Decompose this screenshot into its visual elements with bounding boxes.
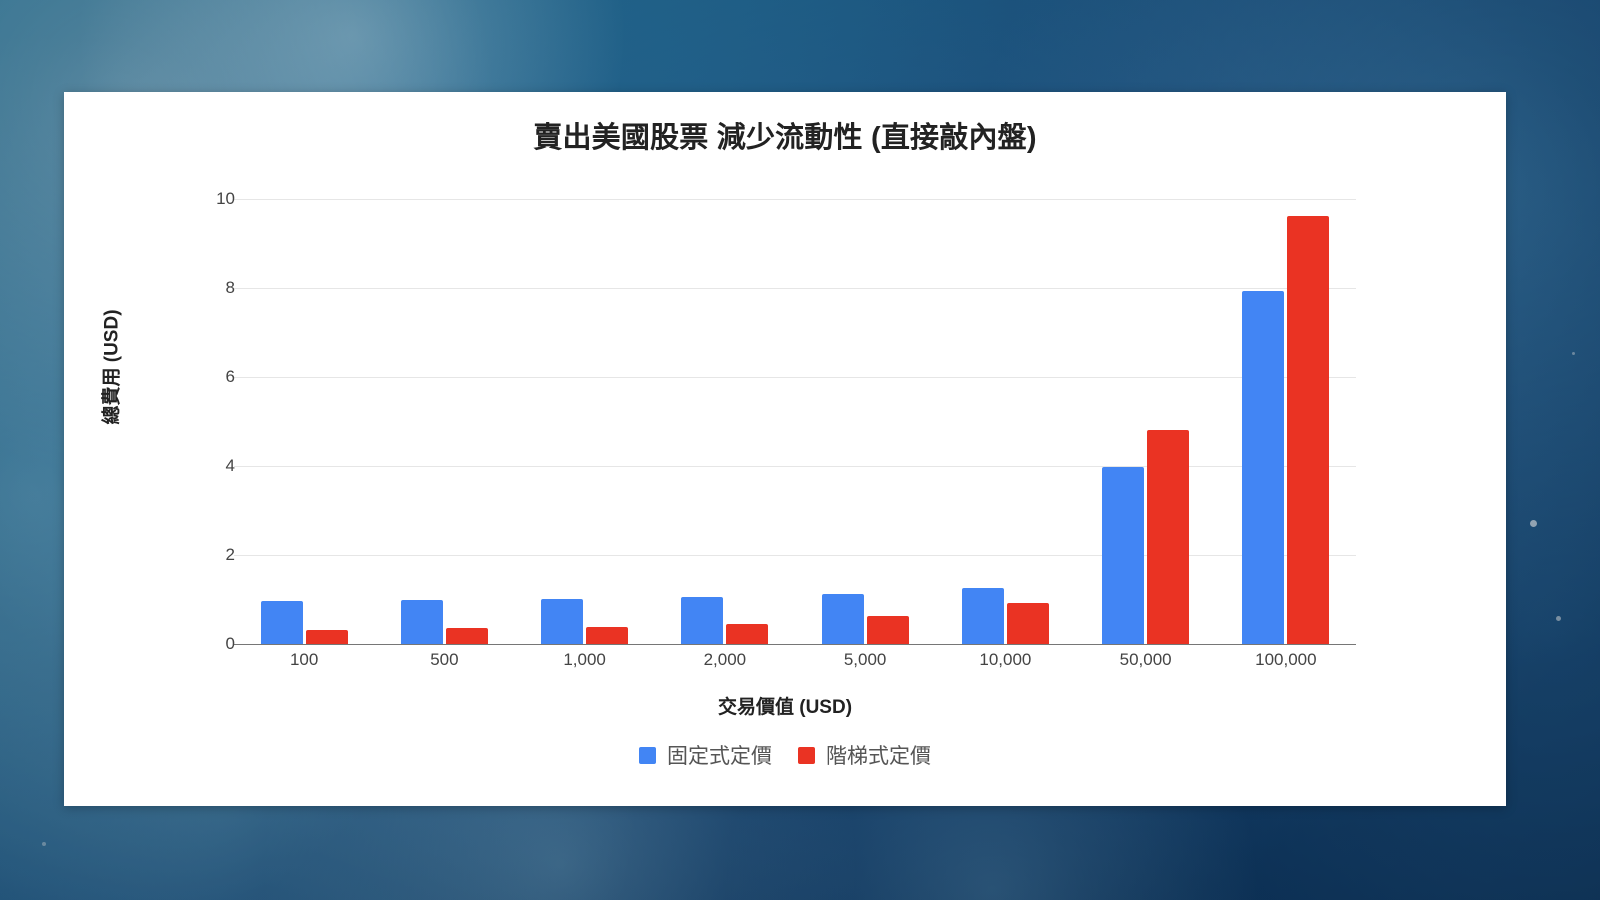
- bar-fixed[interactable]: [822, 594, 864, 644]
- bar-group: [1076, 199, 1216, 644]
- bar-group: [1216, 199, 1356, 644]
- legend-label: 固定式定價: [667, 740, 772, 770]
- legend-item[interactable]: 階梯式定價: [798, 740, 931, 770]
- y-axis-tick-label: 0: [115, 634, 251, 654]
- bar-fixed[interactable]: [1242, 291, 1284, 644]
- y-axis-tick-label: 8: [115, 278, 251, 298]
- wallpaper-speck: [1530, 520, 1537, 527]
- bar-tiered[interactable]: [1147, 430, 1189, 644]
- bar-fixed[interactable]: [962, 588, 1004, 645]
- legend-item[interactable]: 固定式定價: [639, 740, 772, 770]
- chart-plot-wrapper: 總費用 (USD) 0246810 1005001,0002,0005,0001…: [64, 92, 1506, 806]
- y-axis-tick-label: 4: [115, 456, 251, 476]
- plot-area: 0246810: [234, 199, 1356, 644]
- bar-fixed[interactable]: [681, 597, 723, 644]
- bar-fixed[interactable]: [1102, 467, 1144, 644]
- x-axis-title: 交易價值 (USD): [64, 692, 1506, 719]
- bar-tiered[interactable]: [1287, 216, 1329, 644]
- x-axis-tick-label: 500: [374, 650, 514, 670]
- bar-group: [374, 199, 514, 644]
- legend-swatch-icon: [798, 747, 815, 764]
- bar-tiered[interactable]: [726, 624, 768, 644]
- bar-fixed[interactable]: [541, 599, 583, 644]
- bar-fixed[interactable]: [261, 601, 303, 644]
- x-axis-tick-label: 50,000: [1076, 650, 1216, 670]
- bar-groups: [234, 199, 1356, 644]
- bar-group: [935, 199, 1075, 644]
- bar-tiered[interactable]: [586, 627, 628, 644]
- bar-group: [795, 199, 935, 644]
- y-axis-tick-label: 2: [115, 545, 251, 565]
- wallpaper-speck: [1572, 352, 1575, 355]
- axis-baseline: [234, 644, 1356, 645]
- y-axis-tick-label: 10: [115, 189, 251, 209]
- x-axis-tick-label: 10,000: [935, 650, 1075, 670]
- bar-group: [234, 199, 374, 644]
- bar-tiered[interactable]: [446, 628, 488, 644]
- bar-group: [655, 199, 795, 644]
- bar-tiered[interactable]: [867, 616, 909, 644]
- wallpaper-speck: [42, 842, 46, 846]
- x-axis-tick-label: 100: [234, 650, 374, 670]
- x-axis-tick-label: 1,000: [515, 650, 655, 670]
- x-axis-tick-labels: 1005001,0002,0005,00010,00050,000100,000: [234, 650, 1356, 670]
- legend-label: 階梯式定價: [826, 740, 931, 770]
- bar-fixed[interactable]: [401, 600, 443, 645]
- wallpaper-speck: [1556, 616, 1561, 621]
- chart-card: 賣出美國股票 減少流動性 (直接敲內盤) 總費用 (USD) 0246810 1…: [64, 92, 1506, 806]
- x-axis-tick-label: 2,000: [655, 650, 795, 670]
- x-axis-tick-label: 100,000: [1216, 650, 1356, 670]
- legend-swatch-icon: [639, 747, 656, 764]
- bar-group: [515, 199, 655, 644]
- x-axis-tick-label: 5,000: [795, 650, 935, 670]
- bar-tiered[interactable]: [1007, 603, 1049, 644]
- bar-tiered[interactable]: [306, 630, 348, 644]
- y-axis-tick-label: 6: [115, 367, 251, 387]
- chart-legend: 固定式定價階梯式定價: [64, 740, 1506, 770]
